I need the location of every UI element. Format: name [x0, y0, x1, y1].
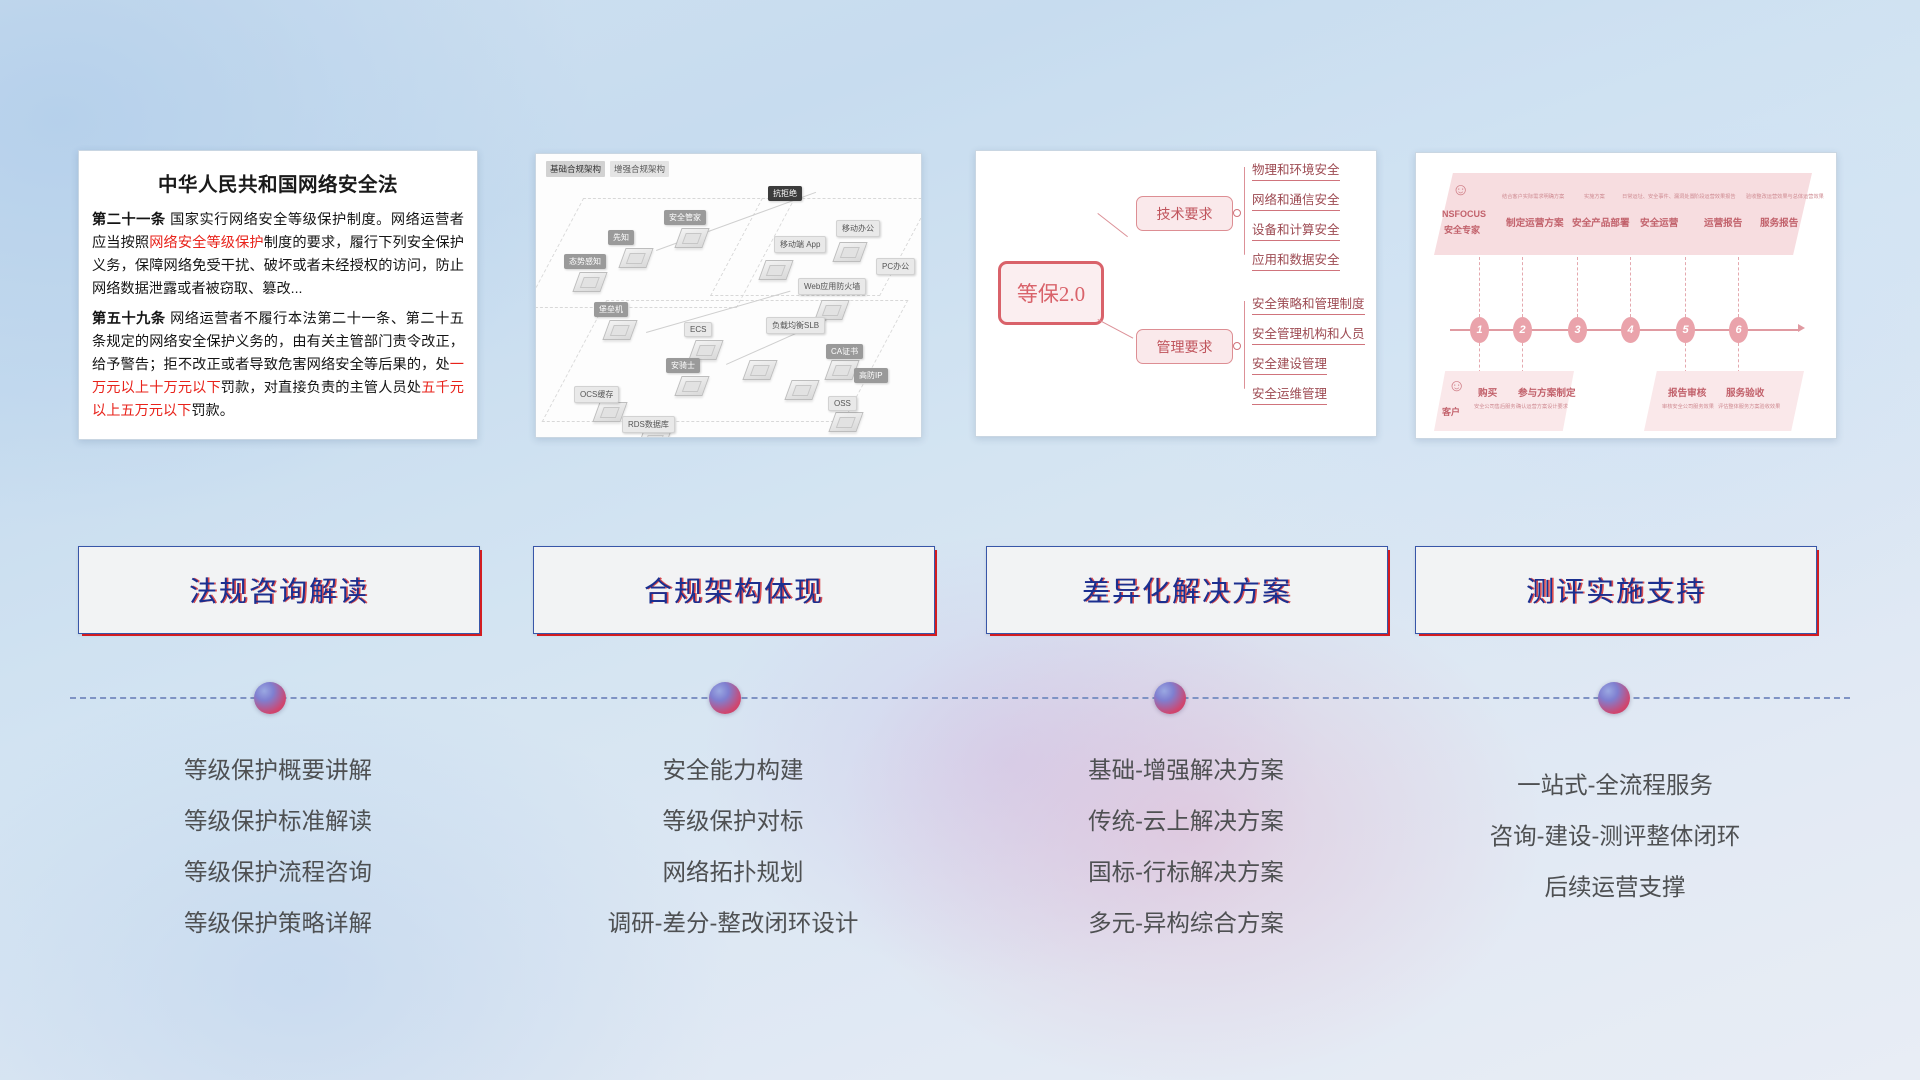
bottom-right-step-0-sub: 审核安全公司服务效果 — [1662, 403, 1714, 410]
mindmap-leaf-mgmt-2: 安全建设管理 — [1252, 353, 1327, 375]
header-box-evaluation-support[interactable]: 测评实施支持 — [1415, 546, 1817, 634]
arch-cube-12 — [828, 412, 863, 432]
bullet-column-3: 一站式-全流程服务 咨询-建设-测评整体闭环 后续运营支撑 — [1415, 760, 1815, 913]
article-59-label: 第五十九条 — [92, 311, 166, 327]
nsfocus-tick-5 — [1685, 257, 1686, 317]
header-box-legal-consulting[interactable]: 法规咨询解读 — [78, 546, 480, 634]
mindmap-leaf-tech-3: 应用和数据安全 — [1252, 249, 1340, 271]
bullet-column-0: 等级保护概要讲解 等级保护标准解读 等级保护流程咨询 等级保护策略详解 — [78, 745, 478, 949]
top-step-1-title: 安全产品部署 — [1572, 215, 1630, 229]
bullet-column-1: 安全能力构建 等级保护对标 网络拓扑规划 调研-差分-整改闭环设计 — [533, 745, 933, 949]
tab-enhanced-architecture[interactable]: 增强合规架构 — [610, 161, 669, 177]
top-step-2-title: 安全运营 — [1640, 215, 1678, 229]
nsfocus-tick-b4 — [1738, 343, 1739, 373]
header-label-3: 测评实施支持 — [1526, 570, 1706, 610]
timeline-dot-1 — [709, 682, 741, 714]
architecture-node-3: 态势感知 — [564, 254, 606, 269]
mindmap-dot-management — [1233, 342, 1241, 350]
nsfocus-tick-2 — [1522, 257, 1523, 317]
architecture-node-6: Web应用防火墙 — [798, 278, 866, 295]
nsfocus-top-band — [1434, 173, 1812, 255]
header-label-0: 法规咨询解读 — [189, 570, 369, 610]
nsfocus-marker-3: 3 — [1568, 317, 1587, 343]
nsfocus-bottom-band-right — [1644, 371, 1804, 431]
architecture-node-2: 先知 — [608, 230, 634, 245]
nsfocus-tick-b2 — [1522, 343, 1523, 373]
architecture-node-12: OSS — [828, 396, 857, 411]
header-box-differentiated-solution[interactable]: 差异化解决方案 — [986, 546, 1388, 634]
law-card-title: 中华人民共和国网络安全法 — [92, 168, 464, 197]
article-21-highlight: 网络安全等级保护 — [149, 235, 264, 251]
list-item: 后续运营支撑 — [1415, 862, 1815, 913]
mindmap-branch-management: 管理要求 — [1136, 329, 1233, 364]
mindmap-card: 等保2.0 技术要求 物理和环境安全 网络和通信安全 设备和计算安全 应用和数据… — [975, 150, 1377, 437]
nsfocus-marker-4: 4 — [1621, 317, 1640, 343]
top-step-2-sub: 日常运址、安全事件、漏洞处置 — [1622, 193, 1695, 200]
bottom-left-step-1-title: 参与方案制定 — [1518, 385, 1576, 399]
top-step-0-title: 制定运营方案 — [1506, 215, 1564, 229]
law-article-59: 第五十九条 网络运营者不履行本法第二十一条、第二十五条规定的网络安全保护义务的，… — [92, 308, 464, 423]
bottom-right-step-1-title: 服务验收 — [1726, 385, 1764, 399]
nsfocus-tick-1 — [1479, 257, 1480, 317]
article-21-label: 第二十一条 — [92, 212, 166, 228]
bottom-left-step-1-sub: 确认运营方案设计要求 — [1516, 403, 1568, 410]
nsfocus-axis-arrow — [1798, 324, 1805, 332]
architecture-node-1: 安全管家 — [664, 210, 706, 225]
timeline-dot-0 — [254, 682, 286, 714]
top-step-3-title: 运营报告 — [1704, 215, 1742, 229]
article-59-text-c: 罚款。 — [191, 403, 234, 419]
architecture-node-9: OCS缓存 — [574, 386, 619, 403]
nsfocus-expert-role: 安全专家 — [1444, 223, 1480, 236]
architecture-node-17: PC办公 — [876, 258, 915, 275]
nsfocus-customer-role: 客户 — [1442, 405, 1460, 418]
header-label-2: 差异化解决方案 — [1082, 570, 1292, 610]
list-item: 等级保护概要讲解 — [78, 745, 478, 796]
header-label-1: 合规架构体现 — [644, 570, 824, 610]
mindmap-leaf-mgmt-3: 安全运维管理 — [1252, 383, 1327, 405]
list-item: 等级保护标准解读 — [78, 796, 478, 847]
bullet-column-2: 基础-增强解决方案 传统-云上解决方案 国标-行标解决方案 多元-异构综合方案 — [986, 745, 1386, 949]
mindmap-core-link-tech — [1097, 213, 1128, 237]
bottom-right-step-0-title: 报告审核 — [1668, 385, 1706, 399]
list-item: 一站式-全流程服务 — [1415, 760, 1815, 811]
list-item: 调研-差分-整改闭环设计 — [533, 898, 933, 949]
timeline-dashed-line — [70, 697, 1850, 699]
timeline-dot-2 — [1154, 682, 1186, 714]
list-item: 安全能力构建 — [533, 745, 933, 796]
bottom-left-step-0-title: 购买 — [1478, 385, 1497, 399]
list-item: 等级保护流程咨询 — [78, 847, 478, 898]
top-step-4-title: 服务报告 — [1760, 215, 1798, 229]
nsfocus-marker-2: 2 — [1513, 317, 1532, 343]
customer-person-icon: ☺ — [1448, 377, 1465, 394]
nsfocus-marker-6: 6 — [1729, 317, 1748, 343]
bottom-left-step-0-sub: 安全公司售后服务 — [1474, 403, 1516, 410]
architecture-node-10: RDS数据库 — [622, 416, 675, 433]
law-text-card: 中华人民共和国网络安全法 第二十一条 国家实行网络安全等级保护制度。网络运营者应… — [78, 150, 478, 440]
architecture-node-7: 负载均衡SLB — [766, 317, 825, 334]
law-article-21: 第二十一条 国家实行网络安全等级保护制度。网络运营者应当按照网络安全等级保护制度… — [92, 209, 464, 301]
architecture-diagram-card: 基础合规架构 增强合规架构 抗拒绝安全管家先知态势感知堡垒机ECSWeb应用防火… — [535, 153, 922, 438]
slide-canvas: 中华人民共和国网络安全法 第二十一条 国家实行网络安全等级保护制度。网络运营者应… — [0, 0, 1920, 1080]
nsfocus-marker-1: 1 — [1470, 317, 1489, 343]
mindmap-leaf-mgmt-0: 安全策略和管理制度 — [1252, 293, 1365, 315]
mindmap-spine-technical — [1244, 167, 1245, 255]
architecture-node-5: ECS — [684, 322, 712, 337]
header-box-compliance-architecture[interactable]: 合规架构体现 — [533, 546, 935, 634]
mindmap-branch-technical: 技术要求 — [1136, 196, 1233, 231]
nsfocus-expert-name: NSFOCUS — [1442, 209, 1486, 219]
mindmap-core-node: 等保2.0 — [998, 261, 1104, 325]
nsfocus-tick-b1 — [1479, 343, 1480, 373]
list-item: 咨询-建设-测评整体闭环 — [1415, 811, 1815, 862]
nsfocus-tick-3 — [1577, 257, 1578, 317]
mindmap-dot-technical — [1233, 209, 1241, 217]
top-step-4-sub: 验收整改运营效果与总体运营效果 — [1746, 193, 1824, 200]
mindmap-leaf-tech-1: 网络和通信安全 — [1252, 189, 1340, 211]
architecture-tabs: 基础合规架构 增强合规架构 — [546, 161, 669, 177]
article-59-text-b: 罚款，对直接负责的主管人员处 — [221, 380, 421, 396]
mindmap-spine-management — [1244, 301, 1245, 389]
list-item: 等级保护策略详解 — [78, 898, 478, 949]
architecture-node-8: 安骑士 — [666, 358, 700, 373]
timeline-dot-3 — [1598, 682, 1630, 714]
list-item: 传统-云上解决方案 — [986, 796, 1386, 847]
architecture-node-0: 抗拒绝 — [768, 186, 802, 201]
nsfocus-tick-b3 — [1685, 343, 1686, 373]
architecture-node-16: 移动办公 — [836, 220, 880, 237]
list-item: 基础-增强解决方案 — [986, 745, 1386, 796]
bottom-right-step-1-sub: 评估整体服务方案验收效果 — [1718, 403, 1780, 410]
top-step-1-sub: 实施方案 — [1584, 193, 1605, 200]
mindmap-core-link-mgmt — [1097, 319, 1133, 339]
list-item: 网络拓扑规划 — [533, 847, 933, 898]
architecture-node-18: 移动端 App — [774, 236, 826, 253]
top-step-0-sub: 结合客户实际需求明确方案 — [1502, 193, 1564, 200]
architecture-node-14: CA证书 — [826, 344, 863, 359]
nsfocus-tick-4 — [1630, 257, 1631, 317]
mindmap-leaf-mgmt-1: 安全管理机构和人员 — [1252, 323, 1365, 345]
list-item: 等级保护对标 — [533, 796, 933, 847]
tab-basic-architecture[interactable]: 基础合规架构 — [546, 161, 605, 177]
architecture-node-4: 堡垒机 — [594, 302, 628, 317]
nsfocus-tick-6 — [1738, 257, 1739, 317]
expert-person-icon: ☺ — [1452, 181, 1469, 198]
list-item: 国标-行标解决方案 — [986, 847, 1386, 898]
nsfocus-timeline-card: ☺ NSFOCUS 安全专家 结合客户实际需求明确方案 制定运营方案 实施方案 … — [1415, 152, 1837, 439]
mindmap-leaf-tech-0: 物理和环境安全 — [1252, 159, 1340, 181]
architecture-node-15: 高防IP — [854, 368, 888, 383]
list-item: 多元-异构综合方案 — [986, 898, 1386, 949]
nsfocus-marker-5: 5 — [1676, 317, 1695, 343]
top-step-3-sub: 阶段运营效果报告 — [1694, 193, 1736, 200]
mindmap-leaf-tech-2: 设备和计算安全 — [1252, 219, 1340, 241]
